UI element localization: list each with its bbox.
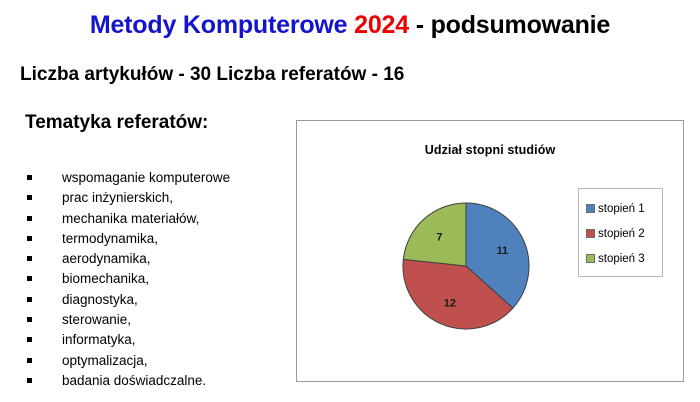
list-item-label: diagnostyka, (62, 292, 138, 307)
pie-chart-graphic: 11127 (401, 201, 531, 331)
list-item: termodynamika, (22, 229, 292, 249)
legend-swatch-icon (586, 204, 595, 213)
list-item-label: mechanika materiałów, (62, 211, 199, 226)
list-item: aerodynamika, (22, 249, 292, 269)
pie-slice[interactable] (403, 203, 466, 266)
pie-slice-value-label: 11 (496, 245, 508, 257)
list-item-label: prac inżynierskich, (62, 190, 173, 205)
title-part-year: 2024 (354, 11, 409, 39)
counts-line: Liczba artykułów - 30 Liczba referatów -… (20, 64, 404, 86)
topics-heading: Tematyka referatów: (25, 112, 208, 134)
pie-slices (403, 203, 529, 329)
legend-label: stopień 2 (598, 228, 645, 240)
bullet-square-icon (27, 276, 32, 281)
bullet-square-icon (27, 337, 32, 342)
list-item-label: optymalizacja, (62, 353, 148, 368)
bullet-square-icon (27, 195, 32, 200)
pie-slice-value-label: 7 (436, 232, 442, 244)
list-item-label: sterowanie, (62, 312, 131, 327)
list-item-label: informatyka, (62, 332, 136, 347)
pie-slice-value-label: 12 (444, 297, 456, 309)
list-item-label: wspomaganie komputerowe (62, 170, 230, 185)
list-item-label: termodynamika, (62, 231, 158, 246)
list-item: badania doświadczalne. (22, 371, 292, 391)
chart-legend: stopień 1 stopień 2 stopień 3 (578, 188, 663, 277)
legend-swatch-icon (586, 229, 595, 238)
bullet-square-icon (27, 297, 32, 302)
slide-title: Metody Komputerowe 2024 - podsumowanie (0, 11, 700, 40)
legend-item-stopien-1[interactable]: stopień 1 (586, 196, 662, 221)
title-part-blue: Metody Komputerowe (90, 11, 354, 39)
bullet-square-icon (27, 175, 32, 180)
legend-item-stopien-2[interactable]: stopień 2 (586, 221, 662, 246)
bullet-square-icon (27, 256, 32, 261)
bullet-square-icon (27, 358, 32, 363)
legend-item-stopien-3[interactable]: stopień 3 (586, 246, 662, 271)
bullet-square-icon (27, 236, 32, 241)
topics-list: wspomaganie komputerowe prac inżynierski… (22, 168, 292, 391)
list-item: wspomaganie komputerowe (22, 168, 292, 188)
legend-swatch-icon (586, 254, 595, 263)
bullet-square-icon (27, 378, 32, 383)
list-item: prac inżynierskich, (22, 188, 292, 208)
list-item: mechanika materiałów, (22, 209, 292, 229)
list-item: diagnostyka, (22, 290, 292, 310)
bullet-square-icon (27, 216, 32, 221)
list-item-label: aerodynamika, (62, 251, 151, 266)
chart-title: Udział stopni studiów (297, 143, 683, 157)
list-item: biomechanika, (22, 269, 292, 289)
pie-svg: 11127 (401, 201, 531, 331)
list-item-label: biomechanika, (62, 271, 149, 286)
legend-label: stopień 3 (598, 253, 645, 265)
title-part-suffix: - podsumowanie (409, 11, 610, 39)
list-item: informatyka, (22, 330, 292, 350)
list-item: optymalizacja, (22, 351, 292, 371)
legend-label: stopień 1 (598, 203, 645, 215)
list-item-label: badania doświadczalne. (62, 373, 206, 388)
pie-chart-container: Udział stopni studiów 11127 stopień 1 st… (296, 120, 684, 382)
bullet-square-icon (27, 317, 32, 322)
list-item: sterowanie, (22, 310, 292, 330)
